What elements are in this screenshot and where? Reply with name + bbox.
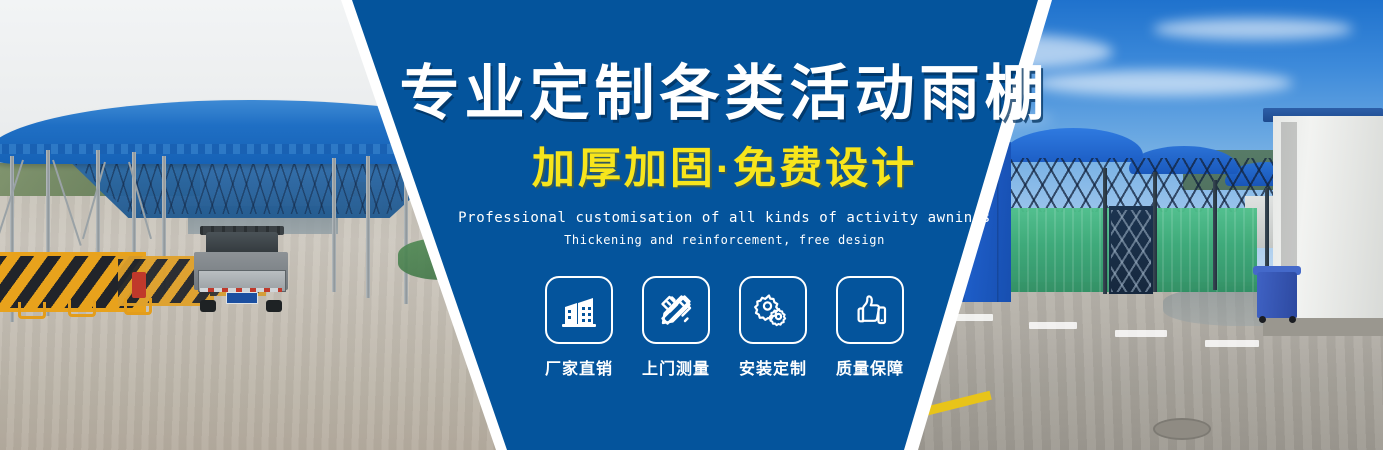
feature-item-onsite-measure[interactable]: 上门测量: [641, 276, 712, 379]
feature-icon-box: [642, 276, 710, 344]
subheadline: 加厚加固·免费设计: [0, 146, 1383, 193]
feature-label: 上门测量: [642, 355, 710, 379]
thumbs-up-icon: [850, 290, 890, 330]
building-icon: [559, 290, 599, 330]
ruler-pencil-icon: [656, 290, 696, 330]
feature-item-install-custom[interactable]: 安装定制: [738, 276, 809, 379]
feature-label: 厂家直销: [545, 355, 613, 379]
feature-item-quality-guarantee[interactable]: 质量保障: [835, 276, 906, 379]
feature-label: 质量保障: [836, 355, 904, 379]
feature-icon-box: [836, 276, 904, 344]
banner-content: 专业定制各类活动雨棚 加厚加固·免费设计 Professional custom…: [0, 0, 1383, 450]
feature-list: 厂家直销: [0, 276, 1383, 379]
gears-icon: [753, 290, 793, 330]
feature-item-factory-direct[interactable]: 厂家直销: [544, 276, 615, 379]
promo-banner: 专业定制各类活动雨棚 加厚加固·免费设计 Professional custom…: [0, 0, 1383, 450]
english-tagline-primary: Professional customisation of all kinds …: [0, 210, 1383, 226]
feature-icon-box: [545, 276, 613, 344]
english-tagline-secondary: Thickening and reinforcement, free desig…: [0, 233, 1383, 247]
feature-label: 安装定制: [739, 355, 807, 379]
feature-icon-box: [739, 276, 807, 344]
headline: 专业定制各类活动雨棚: [0, 62, 1383, 125]
